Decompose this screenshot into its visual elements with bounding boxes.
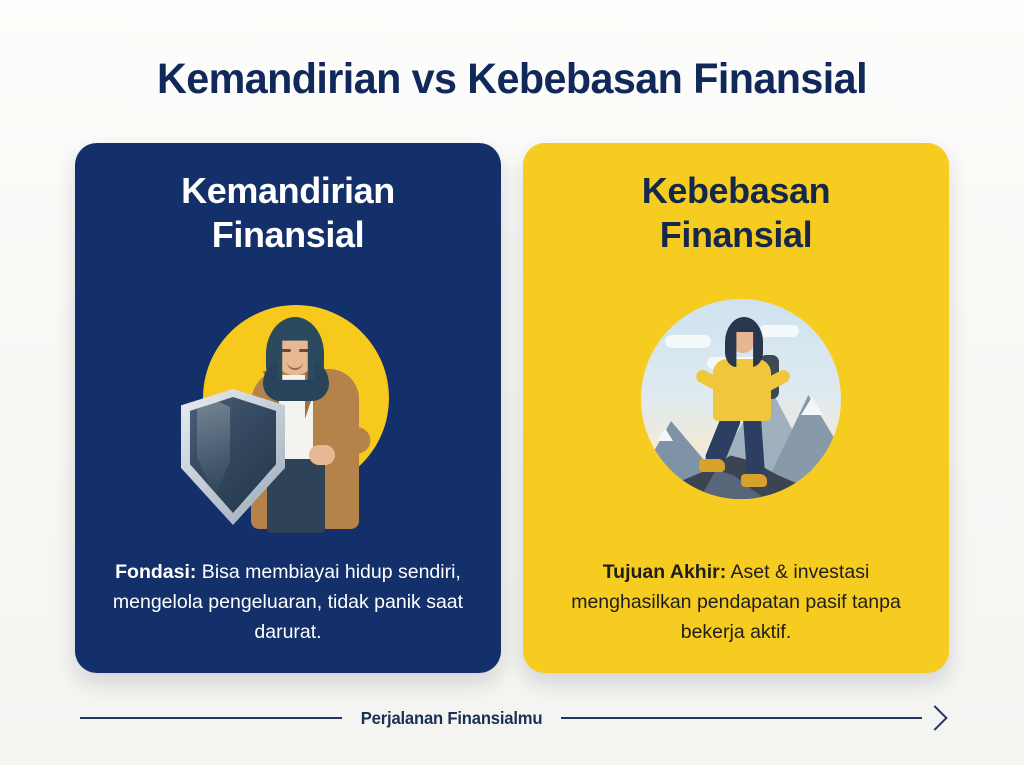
card-kebebasan-finansial: Kebebasan Finansial bbox=[523, 143, 949, 673]
card-body-label-kebebasan: Tujuan Akhir: bbox=[603, 561, 727, 583]
journey-label: Perjalanan Finansialmu bbox=[360, 708, 542, 729]
card-heading-kebebasan: Kebebasan Finansial bbox=[543, 169, 929, 257]
comparison-cards: Kemandirian Finansial bbox=[75, 143, 949, 673]
hand-shape bbox=[309, 445, 335, 465]
journey-line-left bbox=[80, 717, 342, 719]
boot-left-shape bbox=[699, 459, 725, 472]
journey-footer: Perjalanan Finansialmu bbox=[80, 702, 944, 734]
card-kemandirian-finansial: Kemandirian Finansial bbox=[75, 143, 501, 673]
infographic-canvas: Kemandirian vs Kebebasan Finansial Keman… bbox=[0, 0, 1024, 765]
illustration-woman-on-mountain bbox=[523, 273, 949, 533]
eye-left-shape bbox=[281, 349, 291, 352]
card-body-label-kemandirian: Fondasi: bbox=[115, 561, 196, 583]
page-title: Kemandirian vs Kebebasan Finansial bbox=[20, 52, 1003, 106]
leg-right-shape bbox=[743, 412, 766, 479]
eye-right-shape bbox=[299, 349, 309, 352]
card-body-kemandirian: Fondasi: Bisa membiayai hidup sendiri, m… bbox=[99, 557, 477, 647]
card-body-kebebasan: Tujuan Akhir: Aset & investasi menghasil… bbox=[547, 557, 925, 647]
boot-right-shape bbox=[741, 474, 767, 487]
mountain-scene-circle bbox=[641, 299, 841, 499]
illustration-woman-with-shield bbox=[75, 273, 501, 533]
hiker-figure bbox=[641, 299, 841, 499]
journey-line-right bbox=[561, 717, 922, 719]
card-heading-kemandirian: Kemandirian Finansial bbox=[95, 169, 481, 257]
arrow-right-icon bbox=[922, 705, 947, 730]
